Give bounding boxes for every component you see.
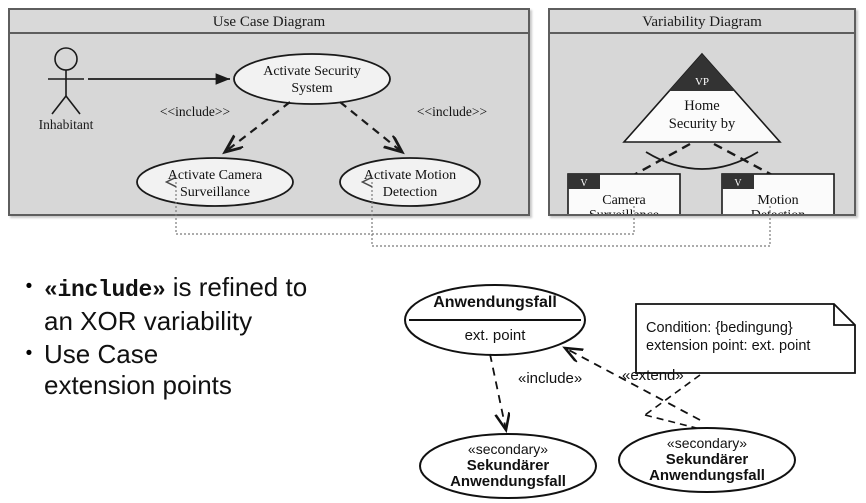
slide-canvas: Use Case Diagram [0,0,866,503]
use-case-secondary-left: «secondary» Sekundärer Anwendungsfall [420,434,596,498]
bullet-2-after: Use Case [44,339,158,369]
list-item: • Use Case extension points [14,339,414,401]
use-case-diagram-title: Use Case Diagram [10,10,528,34]
actor-inhabitant [48,48,84,114]
svg-text:Camera: Camera [602,193,646,208]
actor-label: Inhabitant [39,117,94,132]
include-label-right: <<include>> [417,104,487,119]
secondary-right-line1: Sekundärer [666,451,749,468]
note-line-2: extension point: ext. point [646,338,810,354]
bullet-1-line2: an XOR variability [44,306,252,336]
use-case-anwendungsfall: Anwendungsfall ext. point [405,285,585,355]
note-condition-box: Condition: {bedingung} extension point: … [636,304,855,373]
extension-point-diagram: Anwendungsfall ext. point Condition: {be… [400,280,866,503]
include-stereotype-text: «include» [44,277,166,303]
svg-text:Security by: Security by [669,116,736,132]
svg-text:Home: Home [684,98,719,114]
include-relation-label: «include» [518,370,582,387]
use-case-activate-camera-surveillance: Activate Camera Surveillance [137,158,293,206]
xor-constraint-arc [646,152,758,169]
use-case-secondary-right: «secondary» Sekundärer Anwendungsfall [619,428,795,492]
include-label-left: <<include>> [160,104,230,119]
svg-text:Activate Motion: Activate Motion [364,168,456,183]
secondary-right-stereotype: «secondary» [667,435,747,451]
primary-extension-point: ext. point [465,327,527,344]
include-dependency-right [340,102,402,152]
bullet-text-2: Use Case extension points [44,339,232,401]
svg-text:V: V [580,178,588,189]
use-case-diagram-svg: Inhabitant Activate Security System <<in… [10,34,528,214]
bullet-list: • «include» is refined to an XOR variabi… [14,272,414,403]
variability-diagram-body: VP Home Security by V Camera Surveillanc… [550,34,854,214]
extend-relation-label: «extend» [622,367,684,384]
use-case-activate-motion-detection: Activate Motion Detection [340,158,480,206]
note-line-1: Condition: {bedingung} [646,320,793,336]
variability-diagram-title: Variability Diagram [550,10,854,34]
variability-diagram-svg: VP Home Security by V Camera Surveillanc… [550,34,854,214]
svg-text:Motion: Motion [757,193,798,208]
svg-text:Activate Camera: Activate Camera [168,168,263,183]
use-case-diagram-frame: Use Case Diagram [8,8,530,216]
secondary-left-line2: Anwendungsfall [450,473,566,490]
use-case-activate-security-system: Activate Security System [234,54,390,104]
bullet-1-after: is refined to [166,272,308,302]
secondary-right-line2: Anwendungsfall [649,467,765,484]
secondary-left-stereotype: «secondary» [468,441,548,457]
svg-text:System: System [291,81,332,96]
bullet-2-line2: extension points [44,370,232,400]
include-dependency-left [225,102,290,152]
bullet-marker-icon: • [14,339,44,369]
secondary-left-line1: Sekundärer [467,457,550,474]
svg-text:Surveillance: Surveillance [589,208,659,214]
variation-point-home-security: VP Home Security by [624,54,780,142]
list-item: • «include» is refined to an XOR variabi… [14,272,414,337]
svg-text:Activate Security: Activate Security [263,64,361,79]
svg-text:Surveillance: Surveillance [180,185,250,200]
svg-text:Detection: Detection [383,185,437,200]
vp-marker-label: VP [695,76,709,88]
variability-diagram-frame: Variability Diagram VP Home Security by [548,8,856,216]
primary-use-case-name: Anwendungsfall [433,294,557,311]
svg-text:V: V [734,178,742,189]
bullet-text-1: «include» is refined to an XOR variabili… [44,272,307,337]
variant-camera-surveillance: V Camera Surveillance [568,174,680,214]
include-dependency [490,354,506,430]
bullet-marker-icon: • [14,272,44,302]
svg-text:Detection: Detection [751,208,805,214]
use-case-diagram-body: Inhabitant Activate Security System <<in… [10,34,528,214]
variant-motion-detection: V Motion Detection [722,174,834,214]
